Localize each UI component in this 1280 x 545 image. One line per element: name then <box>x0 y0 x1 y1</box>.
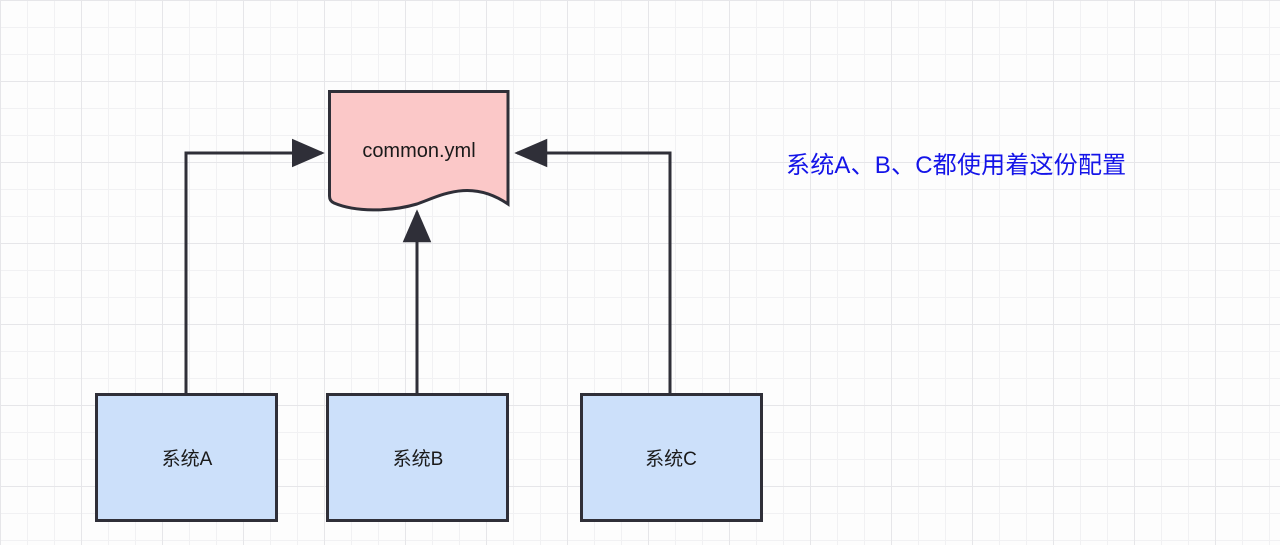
config-doc-label: common.yml <box>362 140 475 162</box>
edge-a-to-doc-line <box>186 153 322 394</box>
node-config-doc[interactable]: common.yml <box>330 92 509 210</box>
edge-a-to-doc[interactable] <box>186 153 322 394</box>
diagram-canvas: common.yml 系统A 系统B 系统C 系统A、B、C都使用着这份配置 <box>0 0 1280 545</box>
edge-c-to-doc[interactable] <box>517 153 670 394</box>
diagram-svg: common.yml 系统A 系统B 系统C <box>0 0 1280 545</box>
node-system-b[interactable]: 系统B <box>328 395 508 521</box>
system-b-label: 系统B <box>393 448 444 470</box>
edge-c-to-doc-line <box>517 153 670 394</box>
system-c-label: 系统C <box>645 448 697 470</box>
system-a-label: 系统A <box>162 448 213 470</box>
node-system-a[interactable]: 系统A <box>97 395 277 521</box>
annotation-label: 系统A、B、C都使用着这份配置 <box>786 151 1126 181</box>
node-system-c[interactable]: 系统C <box>582 395 762 521</box>
